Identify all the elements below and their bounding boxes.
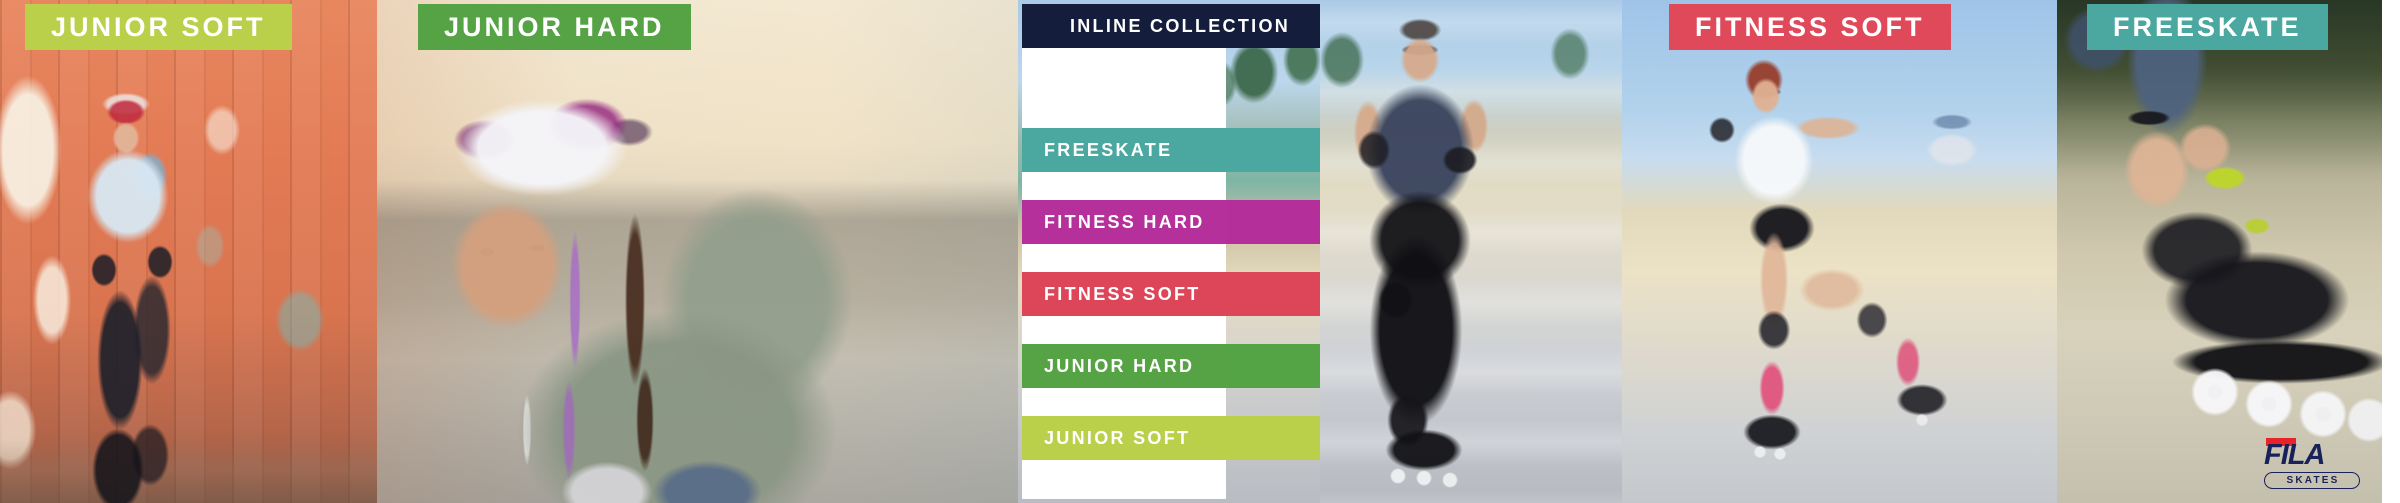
panel-inline-collection[interactable]: INLINE COLLECTION FREESKATE FITNESS HARD… [1018,0,1320,503]
collection-header-label: INLINE COLLECTION [1070,16,1290,37]
collection-row-fitness-hard[interactable]: FITNESS HARD [1022,200,1320,244]
collection-header: INLINE COLLECTION [1022,4,1320,48]
collection-row-freeskate[interactable]: FREESKATE [1022,128,1320,172]
freeskate-photo [2057,0,2382,503]
panel-freeskate[interactable]: FREESKATE FILA SKATES [2057,0,2382,503]
collection-row-label: FITNESS SOFT [1044,284,1201,305]
collection-row-label: FREESKATE [1044,140,1172,161]
fila-skates-label: SKATES [2264,472,2360,489]
collection-row-label: FITNESS HARD [1044,212,1205,233]
fitness-soft-photo [1622,0,2057,503]
panel-tag-fitness-soft: FITNESS SOFT [1669,4,1951,50]
collection-row-label: JUNIOR SOFT [1044,428,1190,449]
fila-inline-collection-banner: JUNIOR SOFT JUNIOR HARD INLINE COLLECTIO… [0,0,2400,503]
collection-row-fitness-soft[interactable]: FITNESS SOFT [1022,272,1320,316]
panel-tag-freeskate: FREESKATE [2087,4,2328,50]
collection-row-junior-hard[interactable]: JUNIOR HARD [1022,344,1320,388]
panel-fitness-soft[interactable]: FITNESS SOFT [1622,0,2057,503]
junior-soft-photo [0,0,377,503]
fila-logo[interactable]: FILA SKATES [2264,437,2360,489]
panel-junior-soft[interactable]: JUNIOR SOFT [0,0,377,503]
panel-tag-junior-soft: JUNIOR SOFT [25,4,292,50]
panel-fitness-hard[interactable] [1320,0,1622,503]
collection-row-junior-soft[interactable]: JUNIOR SOFT [1022,416,1320,460]
fitness-hard-photo [1320,0,1622,503]
fila-wordmark: FILA [2264,441,2360,470]
panel-tag-junior-hard: JUNIOR HARD [418,4,691,50]
collection-row-label: JUNIOR HARD [1044,356,1194,377]
fila-wordmark-wrap: FILA [2264,437,2360,471]
junior-hard-photo [377,0,1018,503]
panel-junior-hard[interactable]: JUNIOR HARD [377,0,1018,503]
